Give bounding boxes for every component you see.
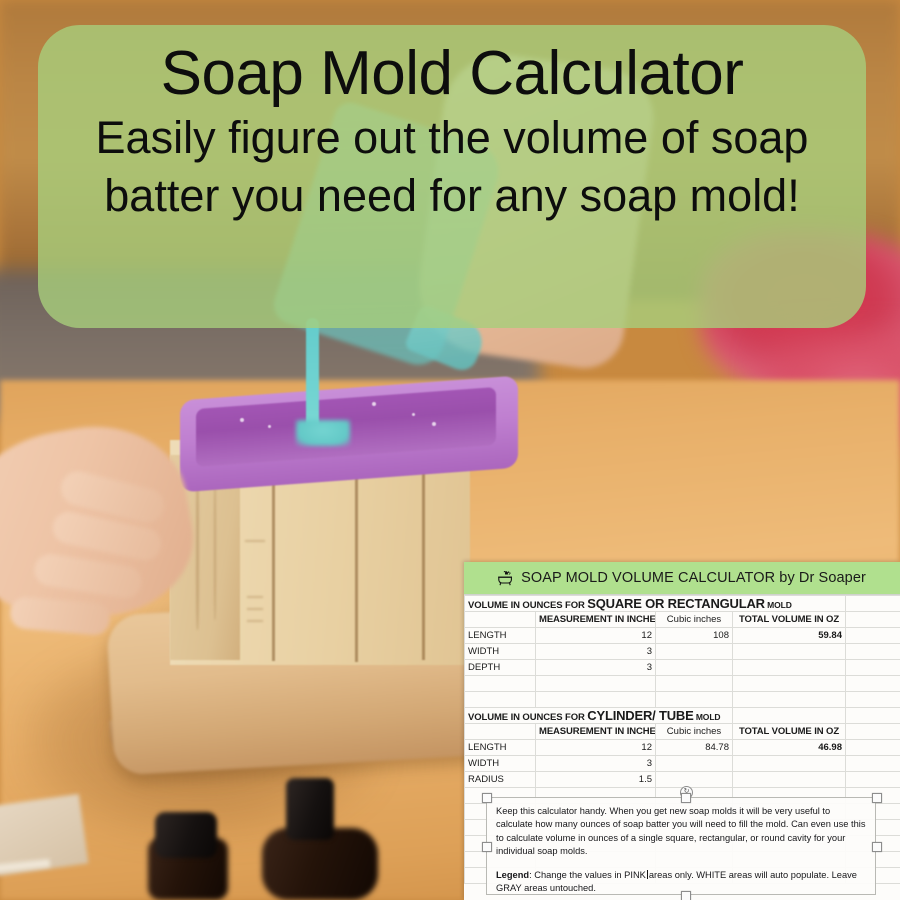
table-row	[465, 692, 900, 708]
resize-handle-bottom-center[interactable]	[681, 891, 691, 900]
cell-empty	[733, 708, 846, 724]
cell-empty	[465, 676, 536, 692]
photo-mold-dovetail-2	[247, 596, 263, 598]
row-label-length: LENGTH	[465, 740, 536, 756]
table-row: WIDTH 3	[465, 756, 900, 772]
cell-empty	[846, 660, 900, 676]
input-width-rect[interactable]: 3	[536, 644, 656, 660]
photo-mold-grain-2	[214, 480, 216, 620]
locked-cell	[733, 644, 846, 660]
table-row: MEASUREMENT IN INCHES Cubic inches TOTAL…	[465, 724, 900, 740]
cell-empty	[846, 612, 900, 628]
photo-bottle-cap-left	[155, 812, 217, 858]
locked-cell	[656, 644, 733, 660]
locked-cell	[656, 772, 733, 788]
notes-textbox[interactable]: Keep this calculator handy. When you get…	[486, 797, 876, 895]
input-width-cyl[interactable]: 3	[536, 756, 656, 772]
cell-empty	[656, 692, 733, 708]
table-row: RADIUS 1.5	[465, 772, 900, 788]
row-label-radius: RADIUS	[465, 772, 536, 788]
photo-mold-dovetail-3	[247, 608, 263, 610]
cell-empty	[846, 692, 900, 708]
spreadsheet-title: SOAP MOLD VOLUME CALCULATOR by Dr Soaper	[521, 570, 866, 586]
row-label-width: WIDTH	[465, 756, 536, 772]
table-row: WIDTH 3	[465, 644, 900, 660]
section-title-suffix: MOLD	[694, 712, 721, 722]
resize-handle-top-left[interactable]	[482, 793, 492, 803]
row-label-width: WIDTH	[465, 644, 536, 660]
resize-handle-top-right[interactable]	[872, 793, 882, 803]
cell-empty	[846, 724, 900, 740]
cell-empty	[536, 676, 656, 692]
table-row	[465, 676, 900, 692]
cell-empty	[846, 628, 900, 644]
cell-empty	[846, 676, 900, 692]
section-title-suffix: MOLD	[765, 600, 792, 610]
photo-liner-speck-4	[412, 413, 415, 416]
spreadsheet-title-bar: SOAP MOLD VOLUME CALCULATOR by Dr Soaper	[464, 562, 900, 595]
locked-cell	[656, 660, 733, 676]
cell-empty	[846, 756, 900, 772]
section-title-main: CYLINDER/ TUBE	[587, 708, 693, 723]
photo-bottle-cap-right	[286, 778, 334, 840]
cell-empty	[536, 692, 656, 708]
table-row: VOLUME IN OUNCES FOR SQUARE OR RECTANGUL…	[465, 596, 900, 612]
cell-empty	[733, 692, 846, 708]
text-caret	[647, 870, 648, 879]
photo-mold-seam-2	[355, 450, 358, 662]
legend-text-a: : Change the values in PINK	[529, 870, 646, 880]
locked-cell	[733, 772, 846, 788]
section-title-cylinder: VOLUME IN OUNCES FOR CYLINDER/ TUBE MOLD	[465, 708, 733, 724]
table-row: VOLUME IN OUNCES FOR CYLINDER/ TUBE MOLD	[465, 708, 900, 724]
column-header-cubic-inches: Cubic inches	[656, 724, 733, 740]
photo-soap-batter-pool	[296, 420, 350, 446]
cell-empty	[733, 676, 846, 692]
section-title-rectangular: VOLUME IN OUNCES FOR SQUARE OR RECTANGUL…	[465, 596, 846, 612]
photo-liner-speck-3	[372, 402, 376, 406]
input-length-cyl[interactable]: 12	[536, 740, 656, 756]
notes-paragraph: Keep this calculator handy. When you get…	[496, 805, 866, 859]
title-banner: Soap Mold Calculator Easily figure out t…	[38, 25, 866, 328]
column-header-measurement: MEASUREMENT IN INCHES	[536, 724, 656, 740]
locked-cell	[656, 756, 733, 772]
table-row: LENGTH 12 108 59.84	[465, 628, 900, 644]
output-total-volume-rect: 59.84	[733, 628, 846, 644]
cell-empty	[465, 692, 536, 708]
column-header-total-volume: TOTAL VOLUME IN OZ	[733, 612, 846, 628]
page-subtitle: Easily figure out the volume of soap bat…	[60, 109, 844, 224]
photo-liner-speck-5	[432, 422, 436, 426]
section-title-main: SQUARE OR RECTANGULAR	[587, 596, 765, 611]
locked-cell	[733, 756, 846, 772]
row-label-depth: DEPTH	[465, 660, 536, 676]
column-header-total-volume: TOTAL VOLUME IN OZ	[733, 724, 846, 740]
photo-mold-grain-1	[196, 470, 199, 630]
cell-empty	[846, 740, 900, 756]
input-depth-rect[interactable]: 3	[536, 660, 656, 676]
cell-empty	[465, 612, 536, 628]
photo-liner-speck-2	[268, 425, 271, 428]
output-total-volume-cyl: 46.98	[733, 740, 846, 756]
output-cubic-inches-cyl: 84.78	[656, 740, 733, 756]
cell-empty	[846, 708, 900, 724]
locked-cell	[733, 660, 846, 676]
table-row: DEPTH 3	[465, 660, 900, 676]
screenshot-root: Soap Mold Calculator Easily figure out t…	[0, 0, 900, 900]
resize-handle-middle-right[interactable]	[872, 842, 882, 852]
resize-handle-middle-left[interactable]	[482, 842, 492, 852]
cell-empty	[846, 644, 900, 660]
table-row: MEASUREMENT IN INCHES Cubic inches TOTAL…	[465, 612, 900, 628]
cell-empty	[656, 676, 733, 692]
row-label-length: LENGTH	[465, 628, 536, 644]
section-title-prefix: VOLUME IN OUNCES FOR	[468, 712, 587, 723]
photo-mold-dovetail-4	[247, 620, 263, 622]
cell-empty	[465, 724, 536, 740]
legend-label: Legend	[496, 870, 529, 880]
photo-liner-speck-1	[240, 418, 244, 422]
input-length-rect[interactable]: 12	[536, 628, 656, 644]
photo-mold-dovetail-1	[245, 540, 265, 542]
column-header-measurement: MEASUREMENT IN INCHES	[536, 612, 656, 628]
input-radius-cyl[interactable]: 1.5	[536, 772, 656, 788]
resize-handle-top-center[interactable]	[681, 793, 691, 803]
bathtub-icon	[498, 571, 515, 586]
table-row: LENGTH 12 84.78 46.98	[465, 740, 900, 756]
output-cubic-inches-rect: 108	[656, 628, 733, 644]
cell-empty	[846, 596, 900, 612]
cell-empty	[846, 772, 900, 788]
column-header-cubic-inches: Cubic inches	[656, 612, 733, 628]
page-title: Soap Mold Calculator	[161, 43, 744, 105]
photo-mold-seam-3	[422, 452, 425, 660]
section-title-prefix: VOLUME IN OUNCES FOR	[468, 600, 587, 611]
